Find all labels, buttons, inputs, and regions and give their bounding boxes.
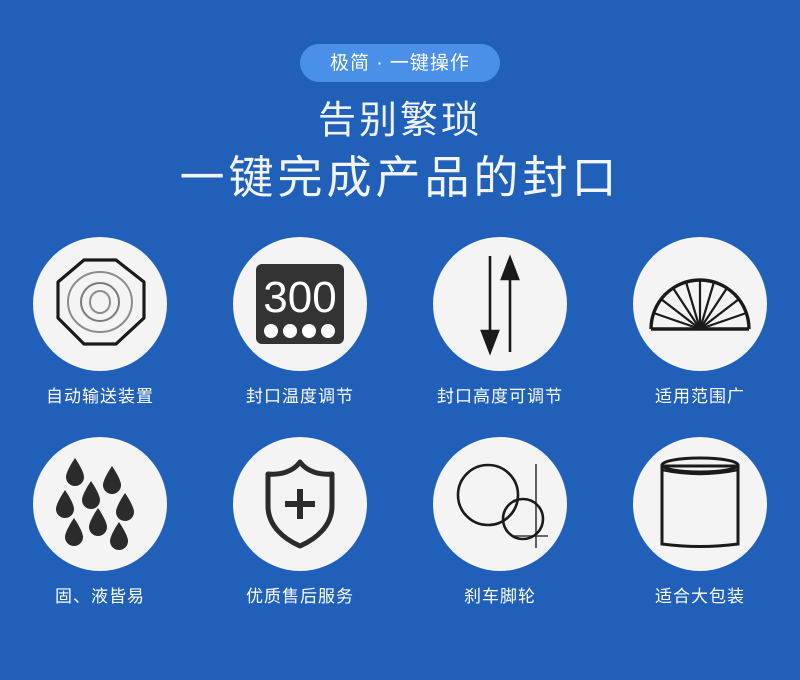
tagline-badge: 极简 · 一键操作 — [300, 44, 500, 82]
feature-item-adjustable-height[interactable]: 封口高度可调节 — [400, 237, 600, 437]
icon-circle — [433, 437, 567, 571]
page-title-line-2: 一键完成产品的封口 — [0, 150, 800, 206]
large-package-bag-icon — [652, 452, 748, 556]
feature-item-after-sales[interactable]: 优质售后服务 — [200, 437, 400, 637]
feature-item-temperature[interactable]: 300 封口温度调节 — [200, 237, 400, 437]
promo-page: 极简 · 一键操作 告别繁琐 一键完成产品的封口 自动输送装置 — [0, 0, 800, 680]
feature-label: 适用范围广 — [655, 388, 745, 405]
icon-circle — [33, 237, 167, 371]
feature-label: 封口温度调节 — [246, 388, 354, 405]
feature-item-large-package[interactable]: 适合大包装 — [600, 437, 800, 637]
icon-circle — [233, 437, 367, 571]
fan-semicircle-icon — [647, 251, 753, 357]
feature-label: 刹车脚轮 — [464, 588, 536, 605]
icon-circle — [633, 437, 767, 571]
octagon-rollers-icon — [48, 252, 152, 356]
display-value: 300 — [263, 273, 336, 322]
up-down-arrows-icon — [448, 252, 552, 356]
icon-circle — [33, 437, 167, 571]
feature-item-brake-casters[interactable]: 刹车脚轮 — [400, 437, 600, 637]
icon-circle — [633, 237, 767, 371]
feature-label: 适合大包装 — [655, 588, 745, 605]
feature-item-auto-conveyor[interactable]: 自动输送装置 — [0, 237, 200, 437]
brake-caster-circles-icon — [448, 452, 552, 556]
shield-plus-icon — [252, 456, 348, 552]
water-droplets-icon — [50, 452, 150, 556]
feature-label: 自动输送装置 — [46, 388, 154, 405]
feature-label: 固、液皆易 — [55, 588, 145, 605]
feature-grid: 自动输送装置 300 封口温度调节 — [0, 237, 800, 637]
badge-container: 极简 · 一键操作 — [0, 44, 800, 82]
page-header: 极简 · 一键操作 告别繁琐 一键完成产品的封口 — [0, 0, 800, 206]
icon-circle — [433, 237, 567, 371]
feature-item-solid-liquid[interactable]: 固、液皆易 — [0, 437, 200, 637]
temperature-display-icon: 300 — [250, 254, 350, 354]
feature-label: 封口高度可调节 — [437, 388, 563, 405]
page-title-line-1: 告别繁琐 — [0, 98, 800, 146]
icon-circle: 300 — [233, 237, 367, 371]
feature-item-wide-range[interactable]: 适用范围广 — [600, 237, 800, 437]
feature-label: 优质售后服务 — [246, 588, 354, 605]
